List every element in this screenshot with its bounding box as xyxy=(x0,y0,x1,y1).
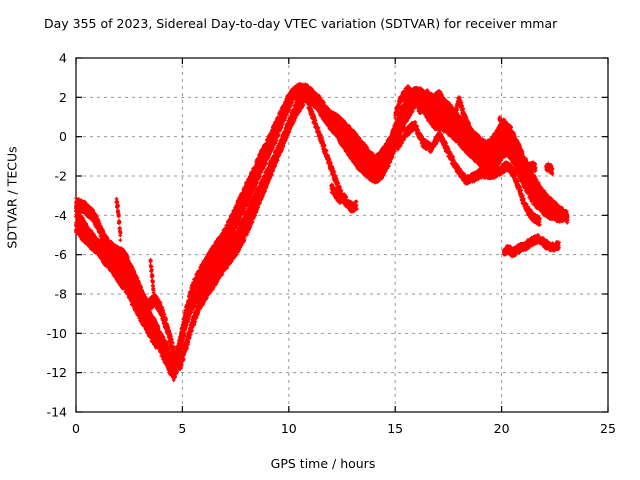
y-tick-label: -4 xyxy=(55,208,68,223)
x-tick-label: 15 xyxy=(387,421,403,436)
y-tick-label: -6 xyxy=(55,247,68,262)
axis-ticks xyxy=(76,58,608,412)
x-tick-label: 20 xyxy=(494,421,510,436)
data-series-layer xyxy=(74,82,569,382)
data-series xyxy=(544,162,554,176)
y-tick-label: -14 xyxy=(47,405,67,420)
x-tick-label: 5 xyxy=(178,421,186,436)
gridlines xyxy=(76,58,608,412)
x-tick-label: 10 xyxy=(281,421,297,436)
y-tick-label: 4 xyxy=(59,51,67,66)
plot-frame xyxy=(76,58,608,412)
data-series xyxy=(329,183,358,213)
y-tick-label: -2 xyxy=(55,169,67,184)
y-tick-label: 0 xyxy=(59,129,67,144)
y-tick-label: -12 xyxy=(47,365,67,380)
x-tick-label: 25 xyxy=(600,421,616,436)
y-tick-label: 2 xyxy=(59,90,67,105)
plot-canvas: 420-2-4-6-8-10-12-140510152025 xyxy=(0,0,640,480)
data-series xyxy=(74,82,563,371)
y-tick-label: -10 xyxy=(47,326,67,341)
x-tick-label: 0 xyxy=(72,421,80,436)
y-tick-label: -8 xyxy=(55,287,68,302)
data-series xyxy=(114,197,122,242)
chart-figure: Day 355 of 2023, Sidereal Day-to-day VTE… xyxy=(0,0,640,480)
